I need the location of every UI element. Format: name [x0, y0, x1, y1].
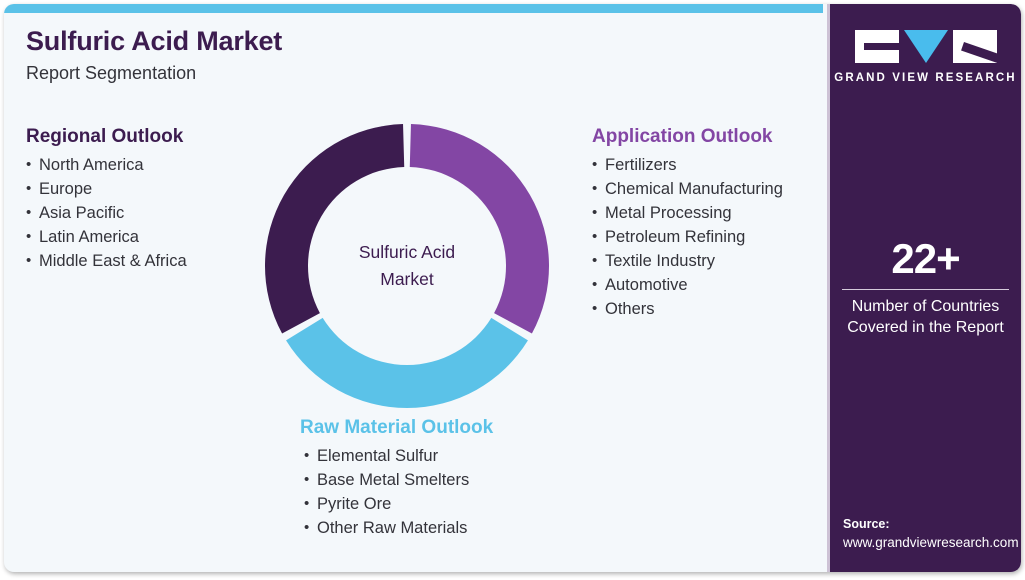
source-block: Source: www.grandviewresearch.com: [843, 515, 1021, 552]
list-item: Petroleum Refining: [592, 225, 783, 249]
list-item: Europe: [26, 177, 187, 201]
header: Sulfuric Acid Market Report Segmentation: [26, 26, 626, 84]
donut-segment: [286, 318, 528, 408]
raw-material-outlook-heading: Raw Material Outlook: [296, 417, 493, 440]
stat-divider: [842, 289, 1009, 290]
infographic-card: Sulfuric Acid Market Report Segmentation…: [4, 4, 1021, 572]
list-item: Fertilizers: [592, 153, 783, 177]
list-item: Asia Pacific: [26, 201, 187, 225]
list-item: Textile Industry: [592, 249, 783, 273]
donut-chart-svg: [263, 122, 551, 410]
regional-outlook-list: North America Europe Asia Pacific Latin …: [26, 153, 187, 273]
raw-material-outlook-list: Elemental Sulfur Base Metal Smelters Pyr…: [296, 444, 493, 540]
regional-outlook-section: Regional Outlook North America Europe As…: [26, 126, 187, 273]
regional-outlook-heading: Regional Outlook: [26, 126, 187, 149]
application-outlook-list: Fertilizers Chemical Manufacturing Metal…: [592, 153, 783, 321]
top-accent-bar: [4, 4, 823, 13]
brand-sidebar: GRAND VIEW RESEARCH 22+ Number of Countr…: [827, 4, 1021, 572]
list-item: Base Metal Smelters: [296, 468, 493, 492]
list-item: Elemental Sulfur: [296, 444, 493, 468]
logo-block: GRAND VIEW RESEARCH: [830, 30, 1021, 84]
application-outlook-heading: Application Outlook: [592, 126, 783, 149]
list-item: Chemical Manufacturing: [592, 177, 783, 201]
donut-chart: Sulfuric Acid Market: [263, 122, 551, 410]
page-title: Sulfuric Acid Market: [26, 26, 626, 57]
list-item: Middle East & Africa: [26, 249, 187, 273]
stat-value: 22+: [830, 236, 1021, 282]
list-item: Others: [592, 297, 783, 321]
raw-material-outlook-section: Raw Material Outlook Elemental Sulfur Ba…: [296, 417, 493, 540]
logo-v-triangle-icon: [904, 30, 948, 63]
source-url[interactable]: www.grandviewresearch.com: [843, 533, 1021, 552]
list-item: Metal Processing: [592, 201, 783, 225]
application-outlook-section: Application Outlook Fertilizers Chemical…: [592, 126, 783, 321]
stat-caption-line1: Number of Countries: [830, 296, 1021, 317]
stat-block: 22+ Number of Countries Covered in the R…: [830, 236, 1021, 338]
list-item: Other Raw Materials: [296, 516, 493, 540]
source-label: Source:: [843, 515, 1021, 533]
donut-segment: [265, 124, 404, 333]
brand-name: GRAND VIEW RESEARCH: [830, 72, 1021, 84]
list-item: Pyrite Ore: [296, 492, 493, 516]
logo-marks: [830, 30, 1021, 64]
list-item: Automotive: [592, 273, 783, 297]
list-item: Latin America: [26, 225, 187, 249]
stat-caption-line2: Covered in the Report: [830, 317, 1021, 338]
page-subtitle: Report Segmentation: [26, 63, 626, 84]
list-item: North America: [26, 153, 187, 177]
donut-segment: [410, 124, 549, 333]
logo-g-icon: [855, 30, 899, 63]
logo-r-icon: [953, 30, 997, 63]
